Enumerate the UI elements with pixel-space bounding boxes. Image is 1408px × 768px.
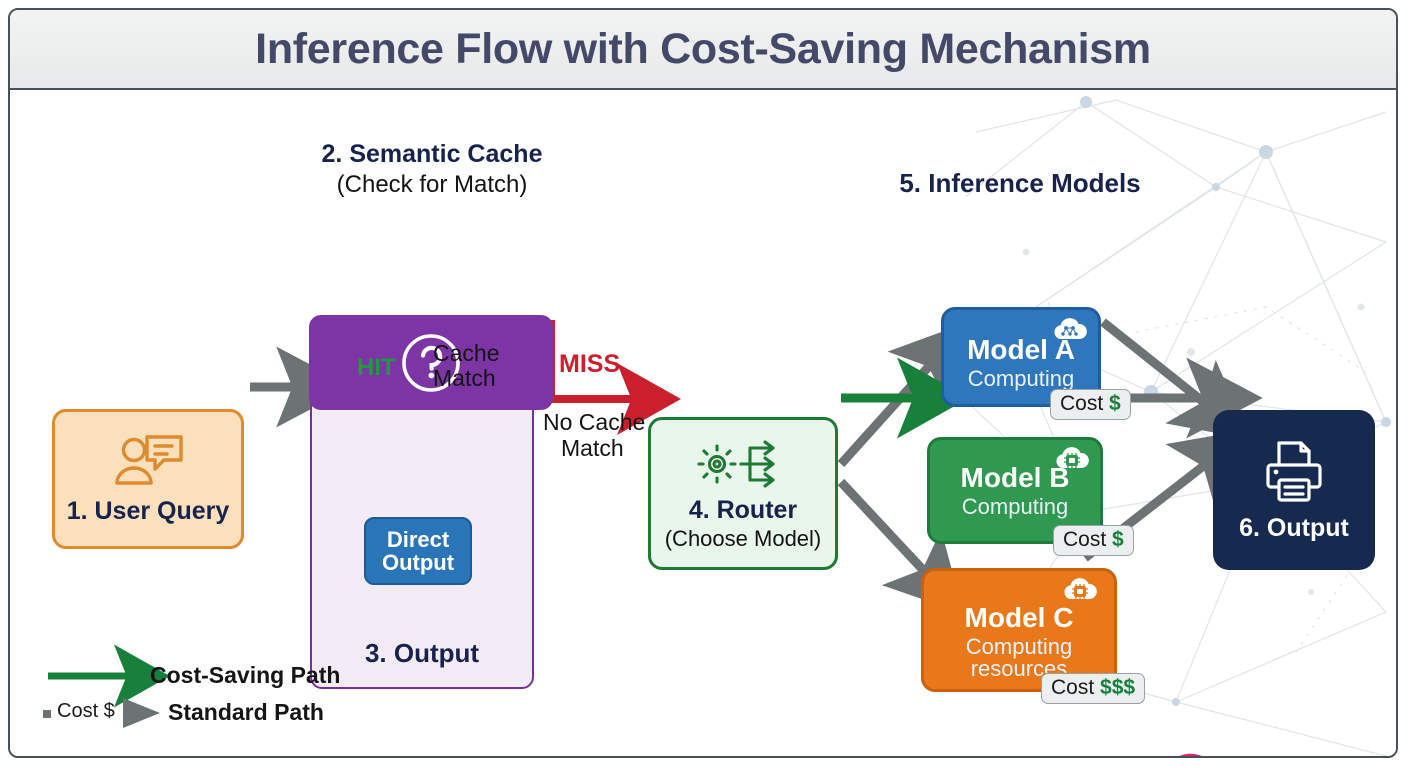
semantic-cache-subheading: (Check for Match) (310, 171, 554, 199)
page-title: Inference Flow with Cost-Saving Mechanis… (255, 25, 1151, 74)
gear-branching-arrows-icon (697, 436, 789, 492)
model-b-cost-badge: Cost $ (1053, 525, 1134, 556)
user-query-label: 1. User Query (67, 497, 230, 526)
router-label: 4. Router (689, 496, 797, 525)
model-a-cost-prefix: Cost (1060, 392, 1109, 415)
model-b-cost-value: $ (1112, 528, 1124, 551)
flow-area: 1. User Query 2. Semantic Cache (Check f… (10, 92, 1396, 756)
title-bar: Inference Flow with Cost-Saving Mechanis… (10, 10, 1396, 90)
node-router[interactable]: 4. Router (Choose Model) (648, 417, 838, 570)
miss-label: MISS (559, 350, 620, 379)
aqusag-mark-icon (1162, 752, 1218, 756)
printer-icon (1257, 438, 1331, 506)
legend-bullet-icon (43, 710, 51, 718)
model-b-name: Model B (930, 462, 1100, 494)
cache-match-label-line2: Match (433, 365, 496, 392)
model-a-cost-badge: Cost $ (1050, 389, 1131, 420)
model-a-name: Model A (944, 334, 1098, 366)
brand-logo: AquSag TECHNOLOGIES (1162, 752, 1352, 756)
user-chat-icon (111, 433, 185, 491)
node-direct-output[interactable]: Direct Output (364, 517, 472, 585)
model-c-cost-prefix: Cost (1051, 676, 1100, 699)
model-b-desc: Computing (930, 496, 1100, 519)
legend-cost-marker: Cost $ (57, 700, 115, 723)
semantic-cache-header[interactable] (309, 315, 553, 410)
model-a-desc: Computing (944, 368, 1098, 391)
model-c-cost-badge: Cost $$$ (1041, 673, 1145, 704)
cache-match-label-line1: Cache (433, 340, 499, 367)
direct-output-line1: Direct (387, 527, 449, 552)
no-cache-match-line2: Match (561, 435, 624, 462)
cache-output-label: 3. Output (310, 638, 534, 669)
cloud-chip-icon (1060, 575, 1100, 603)
router-sublabel: (Choose Model) (665, 526, 822, 552)
model-a-cost-value: $ (1109, 392, 1121, 415)
legend-standard-label: Standard Path (168, 699, 324, 726)
semantic-cache-heading: 2. Semantic Cache (310, 140, 554, 169)
legend-cost-saving-label: Cost-Saving Path (150, 662, 340, 689)
node-output[interactable]: 6. Output (1213, 410, 1375, 570)
model-c-name: Model C (924, 602, 1114, 634)
brand-name: AquSag (1222, 754, 1341, 756)
diagram-canvas: Inference Flow with Cost-Saving Mechanis… (0, 0, 1408, 768)
no-cache-match-line1: No Cache (543, 409, 645, 436)
output-label: 6. Output (1239, 514, 1349, 543)
hit-label: HIT (357, 354, 396, 382)
model-b-cost-prefix: Cost (1063, 528, 1112, 551)
model-c-cost-value: $$$ (1100, 676, 1135, 699)
node-user-query[interactable]: 1. User Query (52, 409, 244, 549)
inference-models-heading: 5. Inference Models (890, 168, 1150, 199)
direct-output-line2: Output (382, 550, 454, 575)
